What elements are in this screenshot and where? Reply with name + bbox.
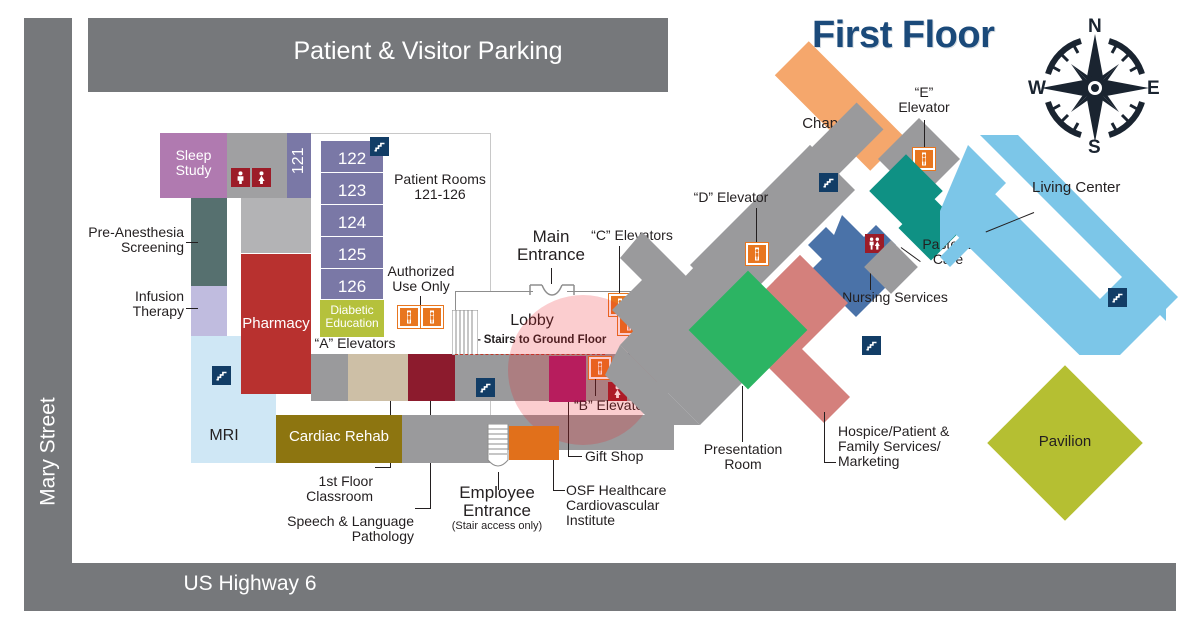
leader-line [824,462,836,463]
room-osf-cardiovascular-institute-label: OSF Healthcare Cardiovascular Institute [566,483,676,528]
e-elevator-label: “E” Elevator [885,85,963,115]
stairway-hatch-icon [452,310,478,355]
room-osf-cardiovascular-institute [509,426,559,460]
compass-north-label: N [1088,16,1102,38]
stairs-icon [476,378,495,397]
leader-line [756,208,757,243]
room-divider [320,204,384,205]
leader-line [553,490,565,491]
room-sleep-study-label: Sleep Study [160,148,227,179]
stairs-icon [819,173,838,192]
west-restroom-block [227,133,287,198]
room-pharmacy-label: Pharmacy [241,316,311,333]
leader-line [420,296,421,306]
leader-line [824,412,825,462]
room-presentation-room-label: Presentation Room [692,442,794,472]
elevator-icon[interactable] [421,306,443,328]
living-center-lower-wing [940,175,1190,355]
room-divider [320,172,384,173]
d-elevator-label: “D” Elevator [680,190,782,205]
employee-stairway-icon [487,424,509,472]
us-highway-6-label: US Highway 6 [120,572,380,595]
leader-line [553,460,554,490]
page-title: First Floor [812,14,994,57]
room-hospice-family-services-label: Hospice/Patient & Family Services/ Marke… [838,424,978,469]
room-speech-language-pathology-label: Speech & Language Pathology [282,514,414,544]
room-divider [320,236,384,237]
leader-line [742,386,743,442]
room-speech-language-pathology [408,354,455,401]
compass-east-label: E [1147,78,1160,100]
patient-room-124-label: 124 [320,214,384,233]
leader-line [375,467,391,468]
patient-room-123-label: 123 [320,182,384,201]
compass-west-label: W [1028,78,1046,100]
floor-plan-map: First Floor [0,0,1190,622]
room-pavilion-label: Pavilion [1025,434,1105,450]
room-first-floor-classroom [348,354,408,401]
room-gift-shop-label: Gift Shop [585,449,685,464]
room-diabetic-education-label: Diabetic Education [318,304,386,330]
restroom-icon [231,168,250,187]
leader-line [186,308,198,309]
patient-room-126-label: 126 [320,278,384,297]
room-first-floor-classroom-label: 1st Floor Classroom [265,474,373,504]
authorized-use-only-label: Authorized Use Only [380,264,462,294]
patient-room-121-label: 121 [290,134,308,188]
stairs-icon [212,366,231,385]
employee-entrance-sub-label: (Stair access only) [442,521,552,533]
leader-line [924,120,925,148]
leader-line [551,268,552,284]
stairs-icon [862,336,881,355]
room-living-center-label: Living Center [1032,180,1152,196]
restroom-icon [252,168,271,187]
leader-line [415,508,431,509]
elevator-icon[interactable] [398,306,420,328]
room-cardiac-rehab-label: Cardiac Rehab [276,429,402,446]
room-infusion-therapy-label: Infusion Therapy [78,289,184,319]
leader-line [186,242,198,243]
a-elevators-label: “A” Elevators [305,336,405,351]
lower-corridor-left-b [402,415,494,463]
leader-line [568,456,582,457]
patient-visitor-parking-label: Patient & Visitor Parking [238,38,618,66]
patient-room-125-label: 125 [320,246,384,265]
west-interior-room [241,198,311,253]
room-mri-label: MRI [196,427,252,444]
stairs-icon [370,137,389,156]
stairs-icon [1108,288,1127,307]
patient-rooms-caption: Patient Rooms 121-126 [388,172,492,202]
mary-street-label: Mary Street [36,382,59,522]
room-pre-anesthesia-screening-label: Pre-Anesthesia Screening [68,225,184,255]
room-divider [320,268,384,269]
room-infusion-therapy [191,286,227,336]
employee-entrance-label: Employee Entrance [442,484,552,521]
